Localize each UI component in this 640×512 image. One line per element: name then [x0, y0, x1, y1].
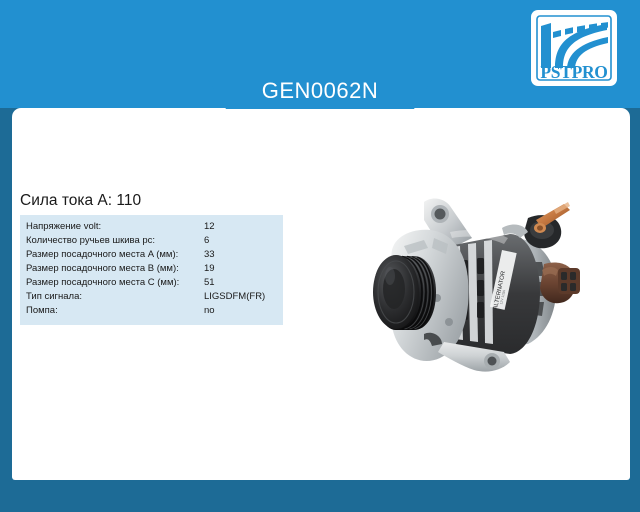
spec-value: 12: [204, 221, 215, 232]
spec-label: Размер посадочного места A (мм):: [26, 249, 204, 260]
amperage-heading: Сила тока A: 110: [20, 192, 141, 210]
table-row: Напряжение volt: 12: [20, 221, 283, 235]
spec-value: 33: [204, 249, 215, 260]
alternator-bplus-terminal: [524, 202, 570, 248]
table-row: Размер посадочного места B (мм): 19: [20, 263, 283, 277]
table-row: Размер посадочного места A (мм): 33: [20, 249, 283, 263]
spec-value: LIGSDFM(FR): [204, 291, 265, 302]
pstpro-logo[interactable]: PSTPRO: [531, 10, 617, 86]
table-row: Помпа: no: [20, 305, 283, 319]
pstpro-logo-icon: PSTPRO: [531, 10, 617, 86]
page-title: GEN0062N: [206, 78, 434, 104]
alternator-photo: ALTERNATOR 12V 110A: [352, 176, 584, 392]
alternator-pulley: [373, 255, 436, 330]
spec-label: Количество ручьев шкива pc:: [26, 235, 204, 246]
table-row: Тип сигнала: LIGSDFM(FR): [20, 291, 283, 305]
spec-label: Размер посадочного места B (мм):: [26, 263, 204, 274]
svg-text:PSTPRO: PSTPRO: [540, 62, 607, 82]
spec-label: Напряжение volt:: [26, 221, 204, 232]
table-row: Размер посадочного места C (мм): 51: [20, 277, 283, 291]
spec-value: 19: [204, 263, 215, 274]
alternator-connector: [540, 262, 580, 303]
spec-value: 6: [204, 235, 209, 246]
product-card-page: GEN0062N PSTPRO Сила тока A: 110 Напряже…: [0, 0, 640, 512]
spec-label: Размер посадочного места C (мм):: [26, 277, 204, 288]
spec-label: Помпа:: [26, 305, 204, 316]
spec-label: Тип сигнала:: [26, 291, 204, 302]
spec-value: no: [204, 305, 215, 316]
table-row: Количество ручьев шкива pc: 6: [20, 235, 283, 249]
specifications-table: Напряжение volt: 12 Количество ручьев шк…: [20, 215, 283, 325]
spec-value: 51: [204, 277, 215, 288]
